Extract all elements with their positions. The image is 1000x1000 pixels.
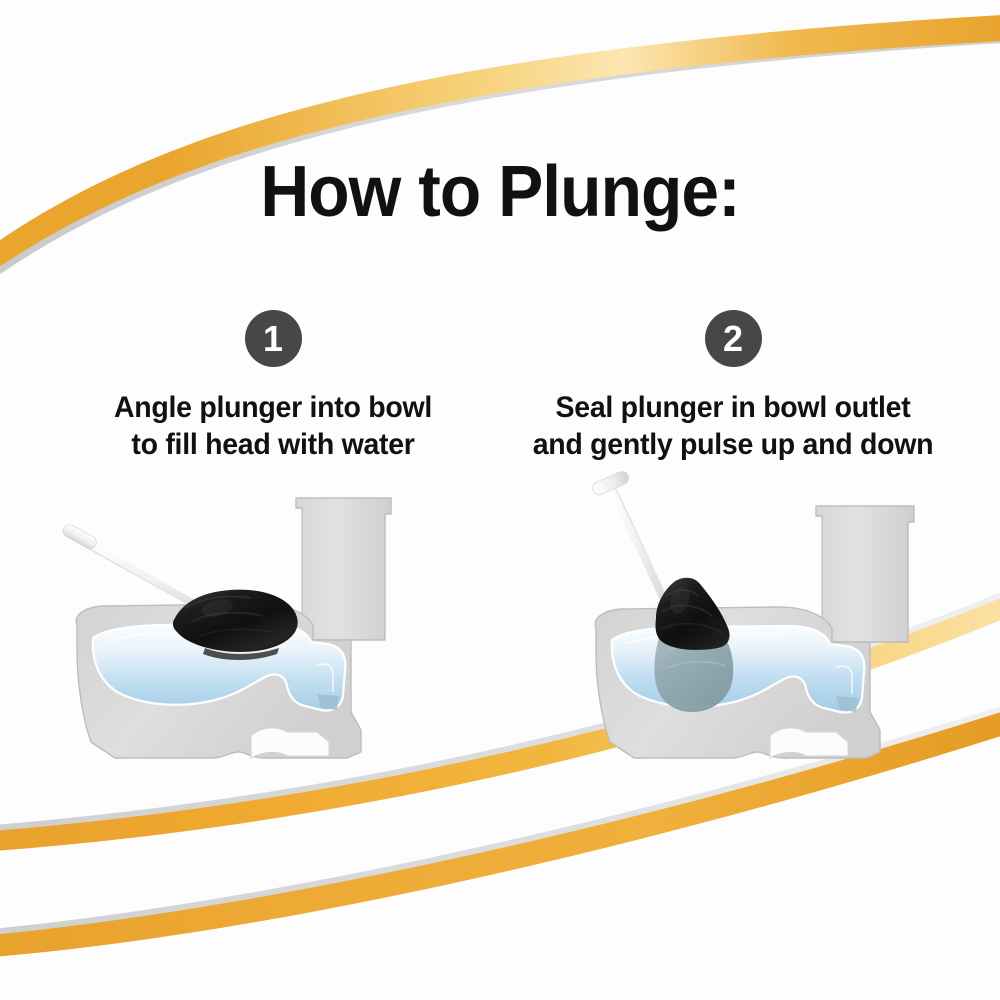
toilet-outlet-channel-1 [251,728,329,758]
infographic-canvas: How to Plunge: 1 Angle plunger into bowl… [0,0,1000,1000]
toilet-outlet-channel-2 [770,728,848,758]
toilet-tank-2 [816,506,914,642]
toilet-cross-section-sealed-plunger [570,460,970,780]
step-2-number-badge: 2 [705,310,762,367]
toilet-water-2 [612,626,865,712]
step-1-caption-line-2: to fill head with water [69,426,478,463]
plunger-head-2 [655,578,729,650]
step-1-caption: Angle plunger into bowl to fill head wit… [69,389,478,463]
step-1-caption-line-1: Angle plunger into bowl [69,389,478,426]
gold-swoosh-top-band [0,14,1000,280]
plunger-shaft-2 [610,486,670,614]
page-title: How to Plunge: [30,156,970,228]
step-1: 1 Angle plunger into bowl to fill head w… [58,310,488,463]
step-1-number-badge: 1 [245,310,302,367]
toilet-cross-section-angled-plunger [55,480,455,780]
step-2-caption: Seal plunger in bowl outlet and gently p… [529,389,938,463]
step-2: 2 Seal plunger in bowl outlet and gently… [518,310,948,463]
plunger-handle-1 [61,522,99,551]
toilet-tank-1 [296,498,391,640]
step-2-caption-line-2: and gently pulse up and down [529,426,938,463]
step-2-caption-line-1: Seal plunger in bowl outlet [529,389,938,426]
